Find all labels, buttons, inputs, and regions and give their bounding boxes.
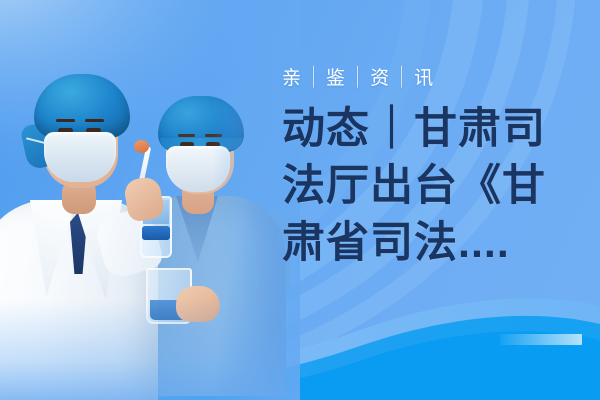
doctor-eyebrow-right xyxy=(85,119,104,122)
highlight-strip xyxy=(500,334,582,345)
doctor-hand xyxy=(123,175,166,223)
kicker-separator-1: ｜ xyxy=(348,64,368,94)
kicker-separator-0: ｜ xyxy=(304,64,324,94)
kicker-item-3: 讯 xyxy=(414,68,434,89)
kicker-label: 亲｜鉴｜资｜讯 xyxy=(282,66,600,92)
nurse-eyebrow-right xyxy=(205,134,222,137)
nurse-eyebrow-left xyxy=(178,134,195,137)
medical-staff-photo xyxy=(0,0,300,400)
nurse-hand xyxy=(176,286,220,322)
kicker-separator-2: ｜ xyxy=(392,64,412,94)
news-banner: 亲｜鉴｜资｜讯 动态｜甘肃司 法厅出台《甘 肃省司法.... xyxy=(0,0,600,400)
headline-block: 亲｜鉴｜资｜讯 动态｜甘肃司 法厅出台《甘 肃省司法.... xyxy=(282,66,600,272)
doctor-face-mask xyxy=(44,132,116,182)
kicker-item-2: 资 xyxy=(370,68,390,89)
kicker-item-0: 亲 xyxy=(282,68,302,89)
headline-line-1: 动态｜甘肃司 xyxy=(282,101,600,158)
page-title: 动态｜甘肃司 法厅出台《甘 肃省司法.... xyxy=(282,101,600,272)
doctor-eyebrow-left xyxy=(56,119,75,122)
headline-line-3: 肃省司法.... xyxy=(282,215,600,272)
headline-line-2: 法厅出台《甘 xyxy=(282,158,600,215)
reagent-bottle-cap xyxy=(142,226,170,240)
nurse-face-mask xyxy=(166,146,230,192)
pipette-bulb xyxy=(134,140,149,153)
doctor-surgical-cap xyxy=(34,74,130,138)
kicker-item-1: 鉴 xyxy=(326,68,346,89)
